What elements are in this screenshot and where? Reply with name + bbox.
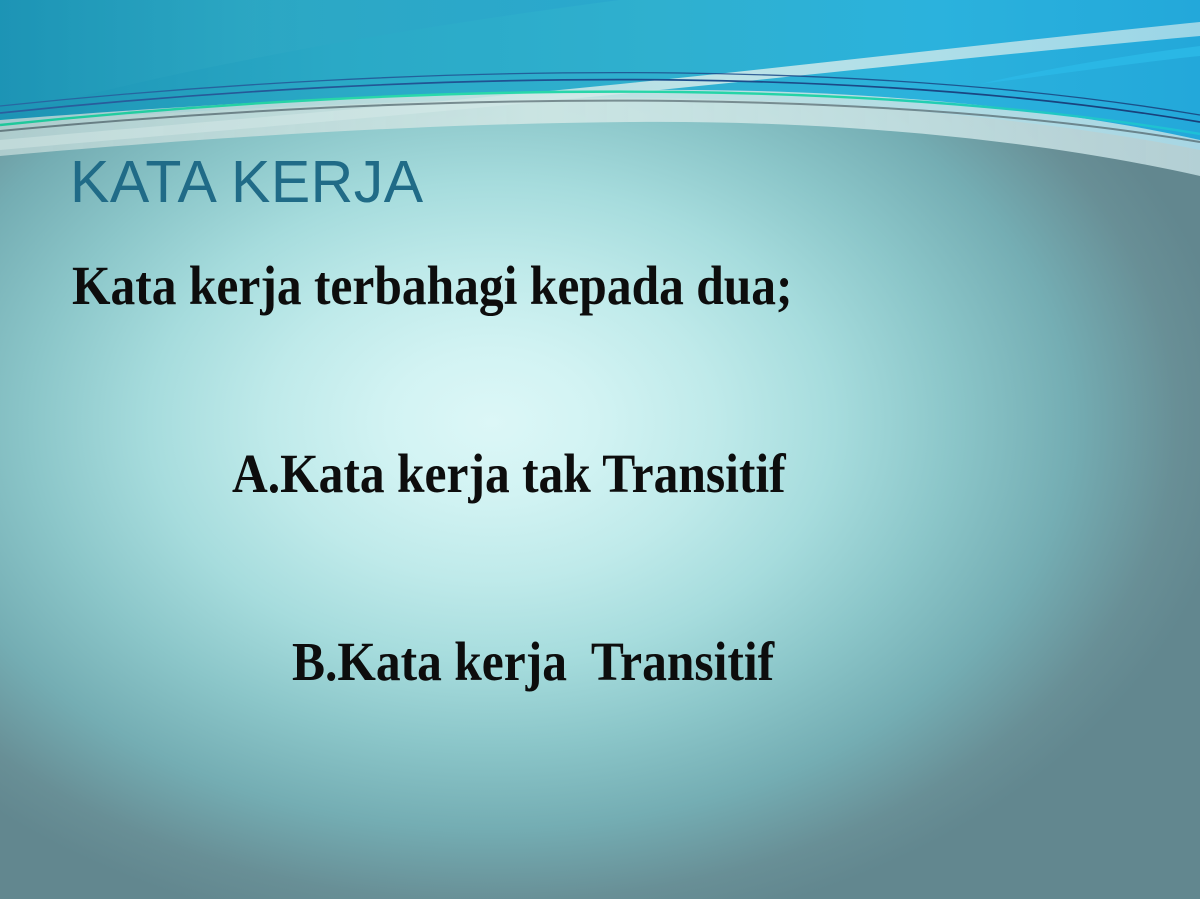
presentation-slide: KATA KERJA Kata kerja terbahagi kepada d… — [0, 0, 1200, 899]
wave-teal-field — [0, 0, 1200, 150]
wave-pale-band-2 — [0, 22, 1200, 150]
body-line-item-b: B.Kata kerja Transitif — [292, 634, 1109, 689]
wave-gray-line — [0, 101, 1200, 142]
slide-body: Kata kerja terbahagi kepada dua; A.Kata … — [0, 258, 1200, 689]
wave-green-accent-line — [0, 92, 1200, 134]
wave-cyan-sliver — [980, 46, 1200, 84]
body-line-item-a: A.Kata kerja tak Transitif — [232, 446, 1103, 501]
slide-title: KATA KERJA — [70, 152, 424, 214]
body-line-intro: Kata kerja terbahagi kepada dua; — [72, 258, 1087, 313]
wave-blue-line-1 — [0, 80, 1200, 122]
wave-teal-wedge — [0, 0, 620, 118]
wave-blue-line-2 — [0, 73, 1200, 115]
